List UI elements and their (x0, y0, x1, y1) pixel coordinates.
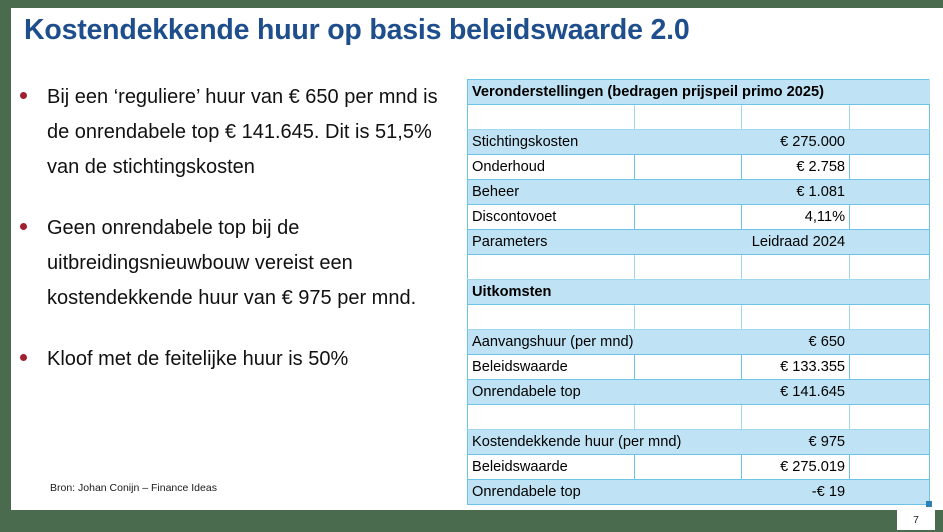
row-value: -€ 19 (742, 480, 850, 505)
row-label: Kostendekkende huur (per mnd) (468, 430, 742, 455)
row-empty-cell (634, 205, 742, 230)
table-row: Beleidswaarde € 133.355 (468, 355, 930, 380)
table-row: Onrendabele top € 141.645 (468, 380, 930, 405)
spacer-cell (634, 305, 742, 330)
spacer-cell (850, 305, 930, 330)
row-trailing-cell (850, 130, 930, 155)
page-title: Kostendekkende huur op basis beleidswaar… (24, 14, 904, 47)
row-trailing-cell (850, 230, 930, 255)
row-trailing-cell (850, 330, 930, 355)
row-label: Onrendabele top (468, 480, 742, 505)
row-value: € 1.081 (742, 180, 850, 205)
assumptions-results-table: Veronderstellingen (bedragen prijspeil p… (467, 79, 930, 505)
table-row: Beheer € 1.081 (468, 180, 930, 205)
row-label: Aanvangshuur (per mnd) (468, 330, 742, 355)
list-item: Bij een ‘reguliere’ huur van € 650 per m… (14, 80, 454, 185)
row-label: Parameters (468, 230, 742, 255)
table-row-header: Veronderstellingen (bedragen prijspeil p… (468, 80, 930, 105)
table-resize-handle[interactable] (926, 501, 932, 507)
row-value: € 2.758 (742, 155, 850, 180)
row-label: Beleidswaarde (468, 355, 635, 380)
list-item: Kloof met de feitelijke huur is 50% (14, 342, 454, 377)
table-row-spacer (468, 305, 930, 330)
row-trailing-cell (850, 455, 930, 480)
page-number: 7 (897, 510, 935, 530)
row-trailing-cell (850, 355, 930, 380)
spacer-cell (468, 255, 635, 280)
table-row-spacer (468, 105, 930, 130)
source-note: Bron: Johan Conijn – Finance Ideas (50, 482, 217, 494)
table-row-section-heading: Uitkomsten (468, 280, 930, 305)
table-row: Aanvangshuur (per mnd) € 650 (468, 330, 930, 355)
row-trailing-cell (850, 205, 930, 230)
spacer-cell (634, 405, 742, 430)
spacer-cell (850, 105, 930, 130)
spacer-cell (742, 255, 850, 280)
row-trailing-cell (850, 155, 930, 180)
row-label: Beheer (468, 180, 742, 205)
row-value: 4,11% (742, 205, 850, 230)
spacer-cell (634, 255, 742, 280)
table-row-spacer (468, 255, 930, 280)
table-row: Kostendekkende huur (per mnd) € 975 (468, 430, 930, 455)
spacer-cell (742, 305, 850, 330)
spacer-cell (850, 255, 930, 280)
table-row: Onderhoud € 2.758 (468, 155, 930, 180)
table-row: Parameters Leidraad 2024 (468, 230, 930, 255)
table-row: Discontovoet 4,11% (468, 205, 930, 230)
row-empty-cell (634, 155, 742, 180)
bullet-text: Kloof met de feitelijke huur is 50% (47, 342, 454, 377)
table-row-spacer (468, 405, 930, 430)
row-label: Onderhoud (468, 155, 635, 180)
row-value: € 141.645 (742, 380, 850, 405)
row-empty-cell (634, 455, 742, 480)
bullet-dot-icon (20, 92, 27, 99)
row-value: € 275.000 (742, 130, 850, 155)
section-heading: Uitkomsten (468, 280, 930, 305)
spacer-cell (468, 305, 635, 330)
row-empty-cell (634, 355, 742, 380)
slide-canvas: Kostendekkende huur op basis beleidswaar… (0, 0, 943, 532)
row-trailing-cell (850, 180, 930, 205)
row-value: € 975 (742, 430, 850, 455)
row-value: Leidraad 2024 (742, 230, 850, 255)
row-label: Beleidswaarde (468, 455, 635, 480)
bullet-dot-icon (20, 223, 27, 230)
table-row: Beleidswaarde € 275.019 (468, 455, 930, 480)
spacer-cell (850, 405, 930, 430)
bullet-dot-icon (20, 354, 27, 361)
row-trailing-cell (850, 430, 930, 455)
row-value: € 650 (742, 330, 850, 355)
row-label: Onrendabele top (468, 380, 742, 405)
bullet-text: Geen onrendabele top bij de uitbreidings… (47, 211, 454, 316)
row-trailing-cell (850, 380, 930, 405)
spacer-cell (742, 405, 850, 430)
table-header-title: Veronderstellingen (bedragen prijspeil p… (468, 80, 930, 105)
row-trailing-cell (850, 480, 930, 505)
row-label: Discontovoet (468, 205, 635, 230)
spacer-cell (468, 405, 635, 430)
decorative-left-bar (0, 0, 11, 532)
spacer-cell (634, 105, 742, 130)
decorative-bottom-bar (0, 510, 943, 532)
row-label: Stichtingskosten (468, 130, 742, 155)
list-item: Geen onrendabele top bij de uitbreidings… (14, 211, 454, 316)
table-row: Stichtingskosten € 275.000 (468, 130, 930, 155)
table-row: Onrendabele top -€ 19 (468, 480, 930, 505)
bullet-text: Bij een ‘reguliere’ huur van € 650 per m… (47, 80, 454, 185)
spacer-cell (742, 105, 850, 130)
spacer-cell (468, 105, 635, 130)
row-value: € 275.019 (742, 455, 850, 480)
bullet-list: Bij een ‘reguliere’ huur van € 650 per m… (14, 80, 454, 377)
row-value: € 133.355 (742, 355, 850, 380)
decorative-top-bar (0, 0, 943, 8)
